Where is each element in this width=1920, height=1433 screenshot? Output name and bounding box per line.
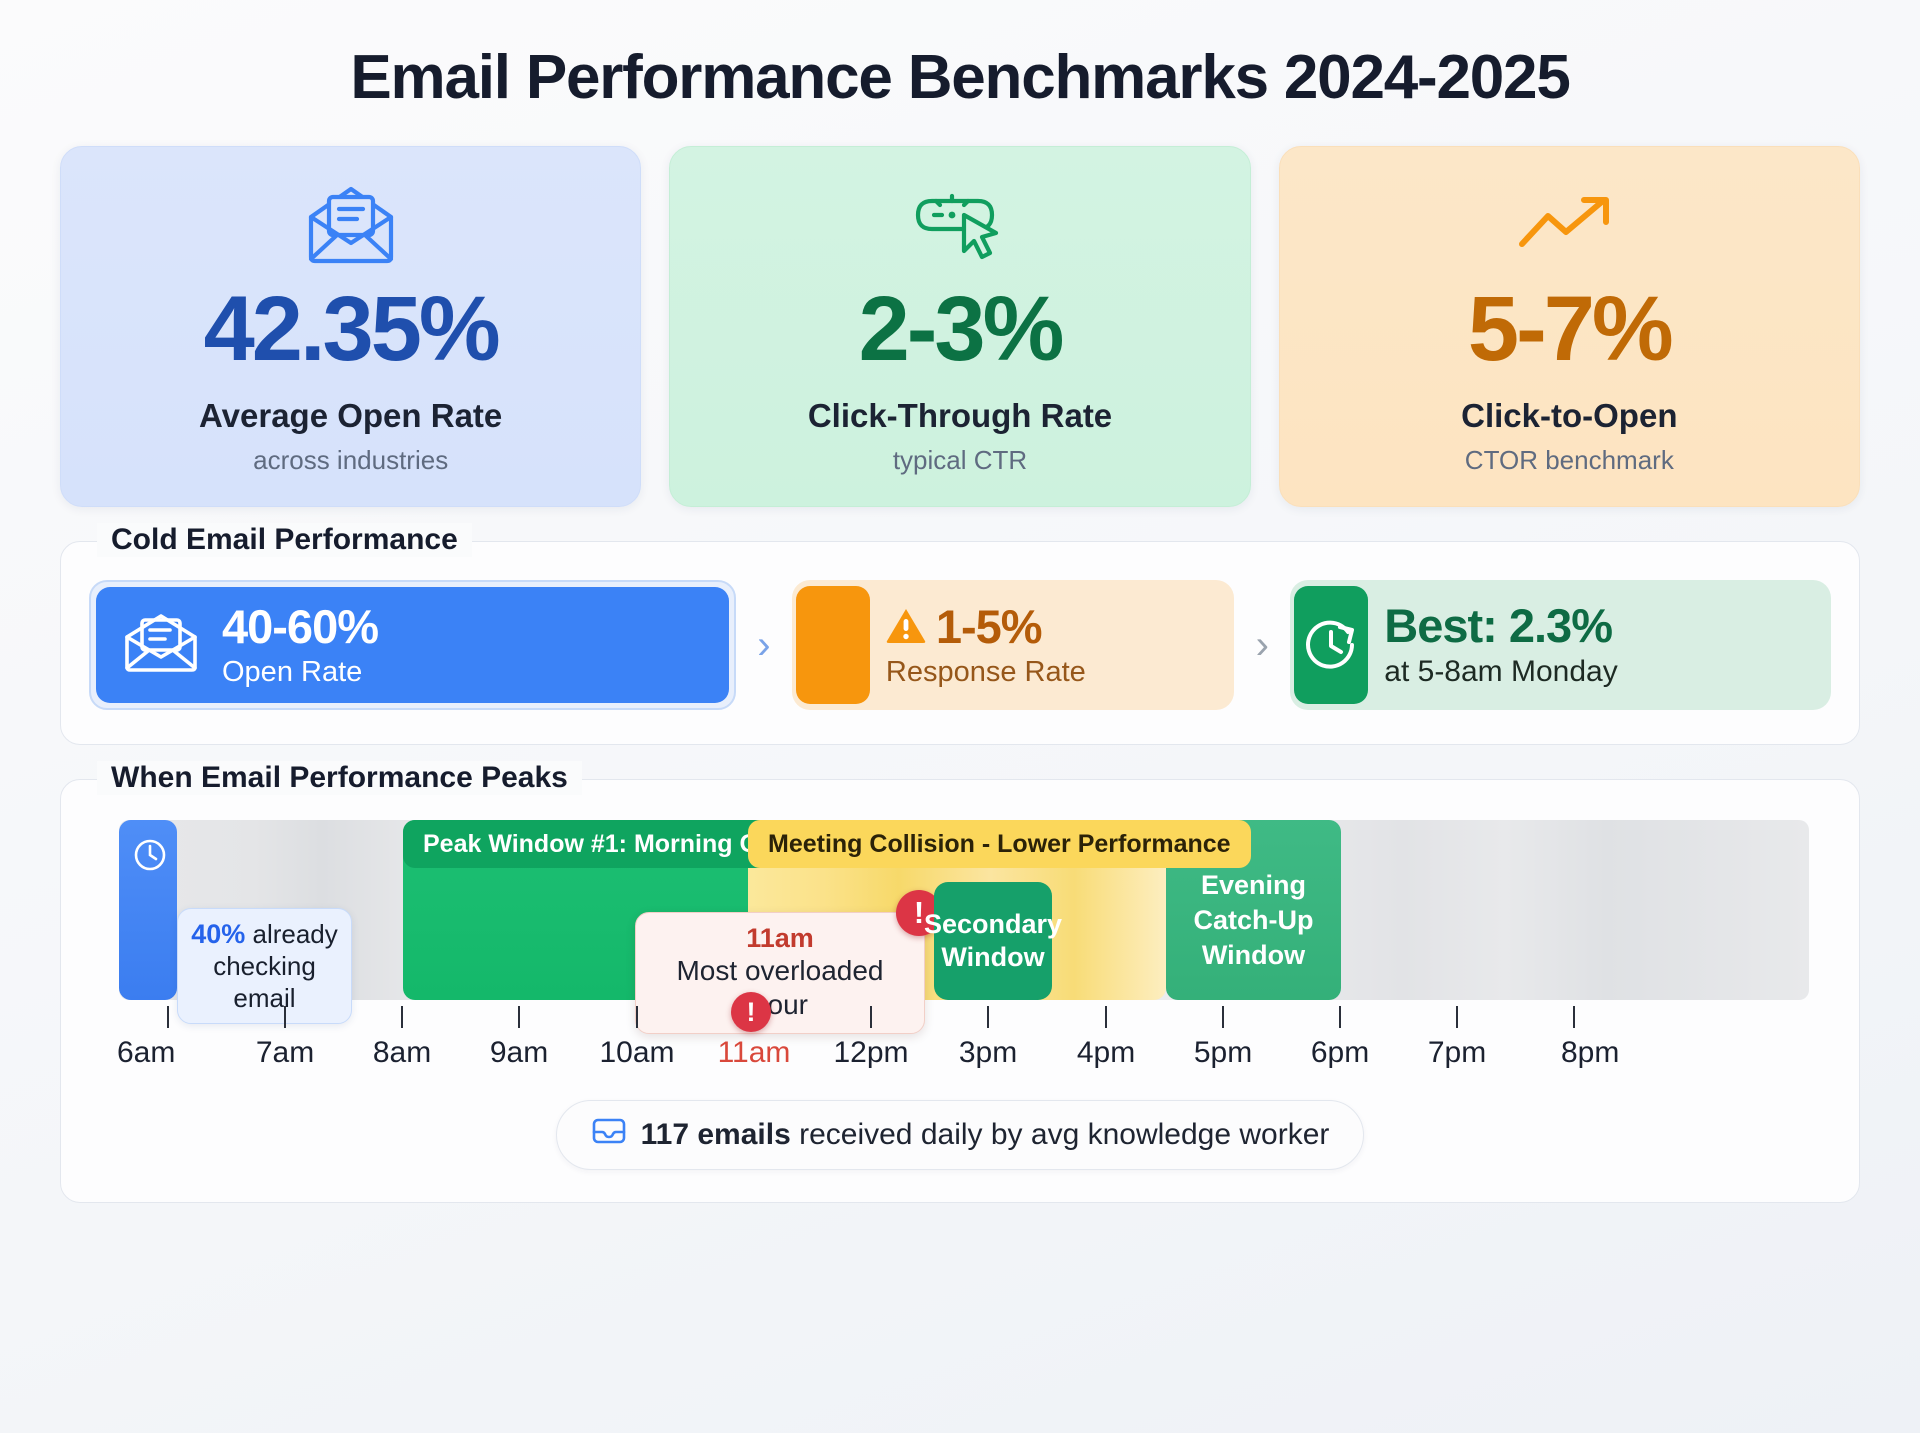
axis-label-7: 3pm <box>959 1036 1017 1070</box>
flow-step-best-time: Best: 2.3% at 5-8am Monday <box>1290 580 1831 710</box>
band-tag-meeting-collision: Meeting Collision - Lower Performance <box>748 820 1251 868</box>
timeline-section-title: When Email Performance Peaks <box>97 761 582 795</box>
page-title: Email Performance Benchmarks 2024-2025 <box>60 0 1860 110</box>
envelope-icon <box>122 611 200 680</box>
stat-card-ctor: 5-7% Click-to-Open CTOR benchmark <box>1279 146 1860 507</box>
timeline-axis: 6am 7am 8am 9am 10am 11am 12pm 3pm 4pm 5… <box>89 1006 1831 1098</box>
secondary-window-line1: Secondary <box>924 908 1062 941</box>
daily-email-text: received daily by avg knowledge worker <box>791 1118 1330 1151</box>
cold-email-panel: Cold Email Performance 40-60% Open <box>60 541 1860 745</box>
stat-label: Click-to-Open <box>1461 397 1677 435</box>
evening-line3: Window <box>1166 938 1341 973</box>
overloaded-hour-time: 11am <box>656 923 904 954</box>
stat-sublabel: across industries <box>253 445 448 476</box>
timeline-chart: Peak Window #1: Morning Opens Meeting Co… <box>89 820 1831 1000</box>
clock-reset-icon <box>1294 586 1368 704</box>
stat-card-ctr: 2-3% Click-Through Rate typical CTR <box>669 146 1250 507</box>
flow-step-label: Open Rate <box>222 656 378 689</box>
open-envelope-icon <box>303 177 399 273</box>
early-checkers-text: already <box>245 919 338 949</box>
axis-label-5: 11am <box>718 1036 791 1070</box>
stat-sublabel: typical CTR <box>893 445 1027 476</box>
axis-label-1: 7am <box>256 1036 314 1070</box>
axis-label-8: 4pm <box>1077 1036 1135 1070</box>
flow-step-value: Best: 2.3% <box>1384 601 1612 651</box>
evening-window-label: Evening Catch-Up Window <box>1166 868 1341 973</box>
cold-email-section-title: Cold Email Performance <box>97 523 472 557</box>
flow-step-label: Response Rate <box>886 656 1086 689</box>
inbox-icon <box>591 1115 627 1155</box>
axis-label-3: 9am <box>490 1036 548 1070</box>
alert-icon-axis: ! <box>731 992 771 1032</box>
flow-step-label: at 5-8am Monday <box>1384 655 1617 689</box>
flow-step-open-rate: 40-60% Open Rate <box>89 580 736 710</box>
axis-label-9: 5pm <box>1194 1036 1252 1070</box>
axis-label-10: 6pm <box>1311 1036 1369 1070</box>
early-checkers-text2: checking email <box>190 951 339 1014</box>
click-cursor-icon <box>912 177 1008 273</box>
stat-label: Average Open Rate <box>199 397 502 435</box>
daily-email-count: 117 emails <box>641 1118 791 1151</box>
evening-line1: Evening <box>1166 868 1341 903</box>
flow-step-value: 40-60% <box>222 602 378 652</box>
stat-card-row: 42.35% Average Open Rate across industri… <box>60 146 1860 507</box>
secondary-window-line2: Window <box>924 941 1062 974</box>
early-checkers-pct: 40% <box>191 919 245 949</box>
clock-icon <box>131 836 169 879</box>
stat-value: 5-7% <box>1468 283 1671 375</box>
axis-label-2: 8am <box>373 1036 431 1070</box>
flow-step-response-rate: 1-5% Response Rate <box>792 580 1234 710</box>
axis-label-11: 7pm <box>1428 1036 1486 1070</box>
orange-swatch <box>796 586 870 704</box>
axis-label-4: 10am <box>599 1036 674 1070</box>
trend-up-icon <box>1514 177 1624 273</box>
evening-line2: Catch-Up <box>1166 903 1341 938</box>
footer-area: 117 emails received daily by avg knowled… <box>89 1100 1831 1176</box>
flow-step-value: 1-5% <box>936 602 1042 652</box>
cold-email-flow: 40-60% Open Rate › <box>89 580 1831 710</box>
stat-label: Click-Through Rate <box>808 397 1112 435</box>
stat-card-open-rate: 42.35% Average Open Rate across industri… <box>60 146 641 507</box>
stat-sublabel: CTOR benchmark <box>1465 445 1674 476</box>
infographic-page: Email Performance Benchmarks 2024-2025 4… <box>0 0 1920 1433</box>
axis-label-12: 8pm <box>1561 1036 1619 1070</box>
timeline-panel: When Email Performance Peaks Peak Window… <box>60 779 1860 1203</box>
daily-email-badge: 117 emails received daily by avg knowled… <box>556 1100 1365 1170</box>
warning-icon <box>886 602 926 652</box>
stat-value: 42.35% <box>204 283 498 375</box>
axis-label-6: 12pm <box>833 1036 908 1070</box>
chevron-right-icon-2: › <box>1234 625 1290 665</box>
stat-value: 2-3% <box>859 283 1062 375</box>
secondary-window-chip: Secondary Window <box>934 882 1052 1000</box>
chevron-right-icon-1: › <box>736 625 792 665</box>
axis-label-0: 6am <box>117 1036 175 1070</box>
